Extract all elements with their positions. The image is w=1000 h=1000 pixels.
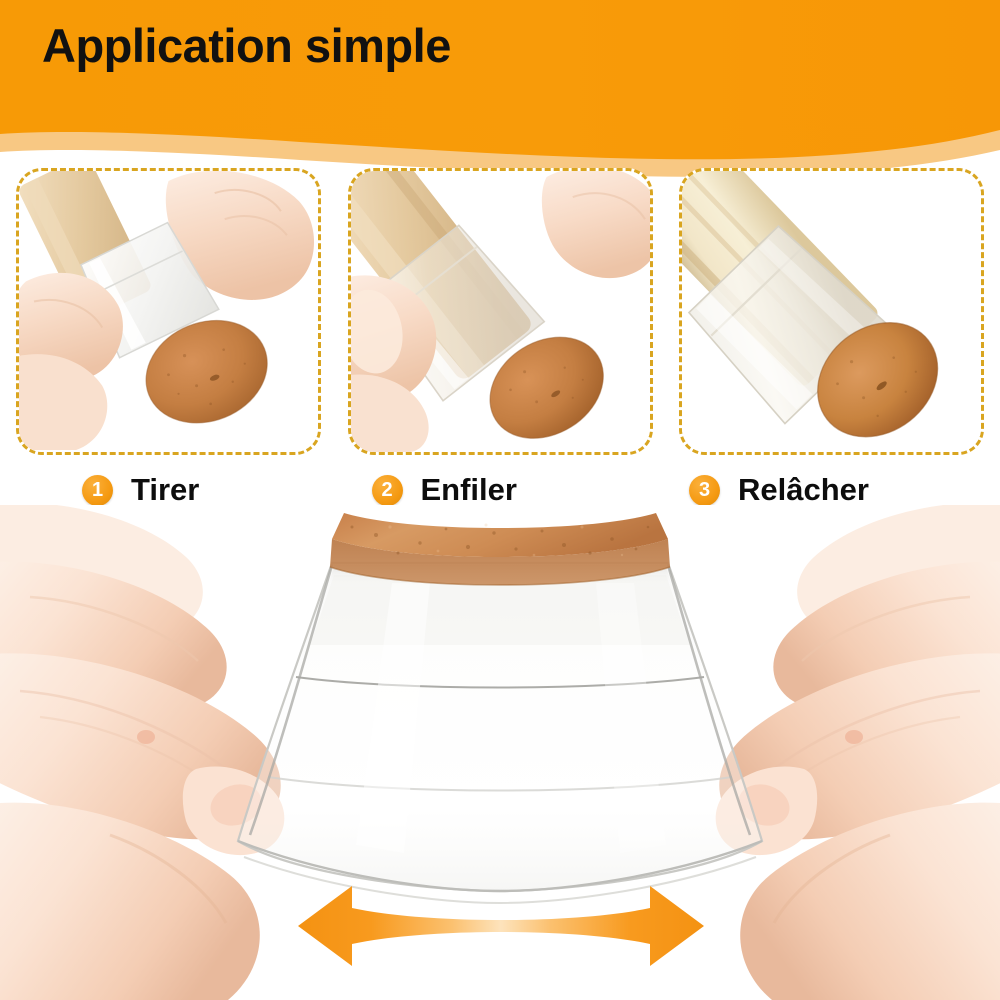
silicone-cap [238, 563, 762, 903]
stretch-direction-arrow [296, 884, 706, 968]
step-number-badge-3: 3 [689, 475, 720, 506]
step-label-3: Relâcher [738, 472, 869, 508]
step-label-2: Enfiler [421, 472, 517, 508]
photo-step-1-icon [19, 171, 318, 452]
step-item-2: 2 Enfiler [348, 168, 653, 513]
photo-step-3-icon [682, 171, 981, 452]
photo-step-2-icon [351, 171, 650, 452]
double-headed-horizontal-arrow-icon [296, 884, 706, 968]
step-photo-frame-1 [16, 168, 321, 455]
step-item-1: 1 Tirer [16, 168, 321, 513]
step-label-1: Tirer [131, 472, 199, 508]
step-number-badge-1: 1 [82, 475, 113, 506]
steps-row: 1 Tirer [0, 168, 1000, 513]
step-photo-frame-3 [679, 168, 984, 455]
step-photo-frame-2 [348, 168, 653, 455]
header-banner: Application simple [0, 0, 1000, 185]
step-item-3: 3 Relâcher [679, 168, 984, 513]
page-title: Application simple [42, 18, 451, 73]
step-number-badge-2: 2 [372, 475, 403, 506]
